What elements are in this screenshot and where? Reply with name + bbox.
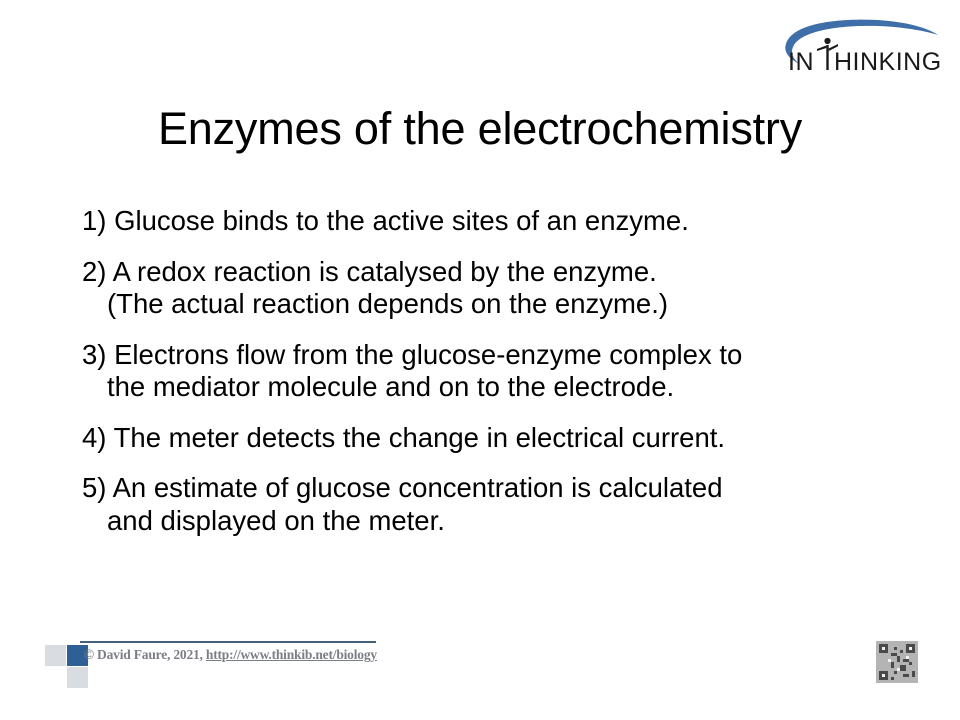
logo-text-hinking: HINKING xyxy=(834,48,940,76)
list-item: 3) Electrons flow from the glucose-enzym… xyxy=(82,339,882,404)
list-item: 5) An estimate of glucose concentration … xyxy=(82,472,882,537)
list-item: 4) The meter detects the change in elect… xyxy=(82,422,882,455)
list-item-line: 5) An estimate of glucose concentration … xyxy=(82,472,882,505)
list-item-line: and displayed on the meter. xyxy=(82,505,882,538)
inthinking-logo: IN HINKING xyxy=(782,18,940,80)
content-list: 1) Glucose binds to the active sites of … xyxy=(82,205,882,555)
footer-url-link[interactable]: http://www.thinkib.net/biology xyxy=(206,647,377,662)
qr-code xyxy=(876,641,918,683)
slide-title: Enzymes of the electrochemistry xyxy=(0,103,960,155)
footer-copyright-text: © David Faure, 2021, xyxy=(84,647,206,662)
list-item: 2) A redox reaction is catalysed by the … xyxy=(82,256,882,321)
slide: IN HINKING Enzymes of the electrochemist… xyxy=(0,0,960,720)
footer-square-gray-left xyxy=(45,645,66,666)
footer-credit: © David Faure, 2021, http://www.thinkib.… xyxy=(84,647,377,663)
list-item-line: 3) Electrons flow from the glucose-enzym… xyxy=(82,339,882,372)
logo-text-in: IN xyxy=(788,48,814,76)
list-item-line: 4) The meter detects the change in elect… xyxy=(82,422,882,455)
list-item-line: 1) Glucose binds to the active sites of … xyxy=(82,205,882,238)
list-item-line: 2) A redox reaction is catalysed by the … xyxy=(82,256,882,289)
list-item-line: (The actual reaction depends on the enzy… xyxy=(82,288,882,321)
list-item: 1) Glucose binds to the active sites of … xyxy=(82,205,882,238)
footer-divider xyxy=(80,641,376,643)
footer-square-gray-bottom xyxy=(67,667,88,688)
list-item-line: the mediator molecule and on to the elec… xyxy=(82,371,882,404)
